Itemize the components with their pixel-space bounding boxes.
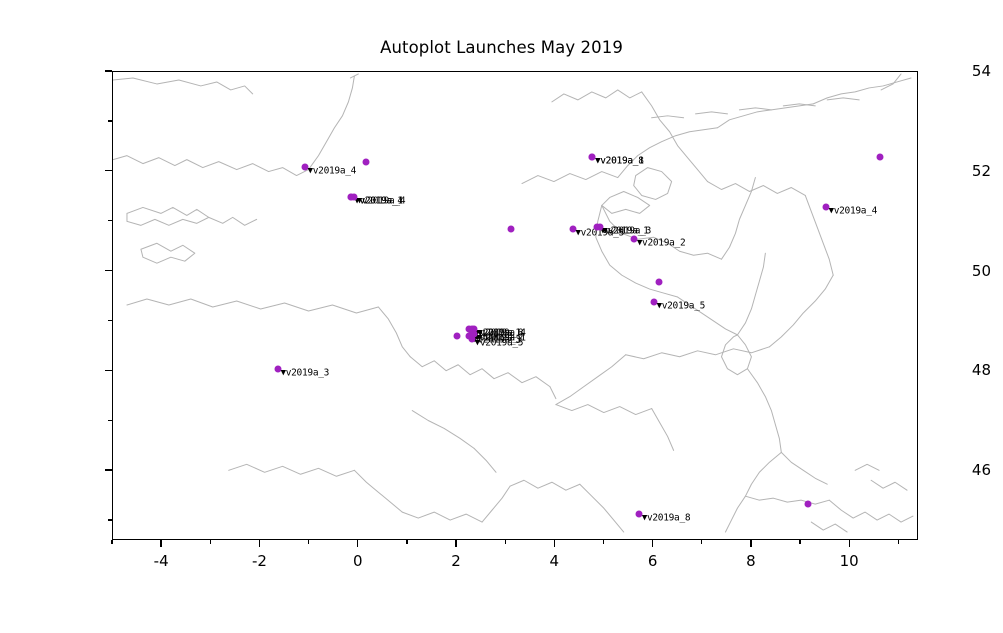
x-axis-tick xyxy=(652,540,653,547)
x-axis-tick-label: 4 xyxy=(514,552,594,570)
x-axis-minor-tick xyxy=(603,540,604,544)
figure-canvas: Autoplot Launches May 2019 xyxy=(0,0,1003,633)
map-plot-area[interactable]: ▼v2019a_4▼v2019a_4▼v2019a_1▼v2019a_4▼v20… xyxy=(112,71,918,540)
y-axis-minor-tick xyxy=(108,519,112,520)
x-axis-minor-tick xyxy=(406,540,407,544)
x-axis-minor-tick xyxy=(210,540,211,544)
x-axis-tick-label: -2 xyxy=(219,552,299,570)
coastline-map xyxy=(113,72,917,539)
x-axis-tick xyxy=(849,540,850,547)
chart-title: Autoplot Launches May 2019 xyxy=(0,38,1003,57)
x-axis-tick-label: 6 xyxy=(613,552,693,570)
y-axis-tick-label: 48 xyxy=(903,361,1003,379)
x-axis-minor-tick xyxy=(701,540,702,544)
x-axis-minor-tick xyxy=(898,540,899,544)
x-axis-minor-tick xyxy=(799,540,800,544)
y-axis-tick-label: 50 xyxy=(903,262,1003,280)
x-axis-tick-label: -4 xyxy=(121,552,201,570)
x-axis-minor-tick xyxy=(111,540,112,544)
x-axis-minor-tick xyxy=(505,540,506,544)
x-axis-tick xyxy=(455,540,456,547)
y-axis-tick xyxy=(105,70,112,71)
x-axis-tick-label: 8 xyxy=(711,552,791,570)
y-axis-tick-label: 46 xyxy=(903,461,1003,479)
x-axis-tick xyxy=(357,540,358,547)
y-axis-tick-label: 52 xyxy=(903,162,1003,180)
x-axis-tick-label: 2 xyxy=(416,552,496,570)
y-axis-minor-tick xyxy=(108,420,112,421)
x-axis-tick xyxy=(259,540,260,547)
x-axis-tick xyxy=(554,540,555,547)
x-axis-minor-tick xyxy=(308,540,309,544)
x-axis-tick-label: 0 xyxy=(318,552,398,570)
y-axis-tick xyxy=(105,170,112,171)
x-axis-tick xyxy=(160,540,161,547)
y-axis-minor-tick xyxy=(108,220,112,221)
y-axis-minor-tick xyxy=(108,120,112,121)
x-axis-tick-label: 10 xyxy=(809,552,889,570)
x-axis-tick xyxy=(750,540,751,547)
y-axis-tick-label: 54 xyxy=(903,62,1003,80)
y-axis-tick xyxy=(105,469,112,470)
y-axis-minor-tick xyxy=(108,320,112,321)
y-axis-tick xyxy=(105,370,112,371)
y-axis-tick xyxy=(105,270,112,271)
